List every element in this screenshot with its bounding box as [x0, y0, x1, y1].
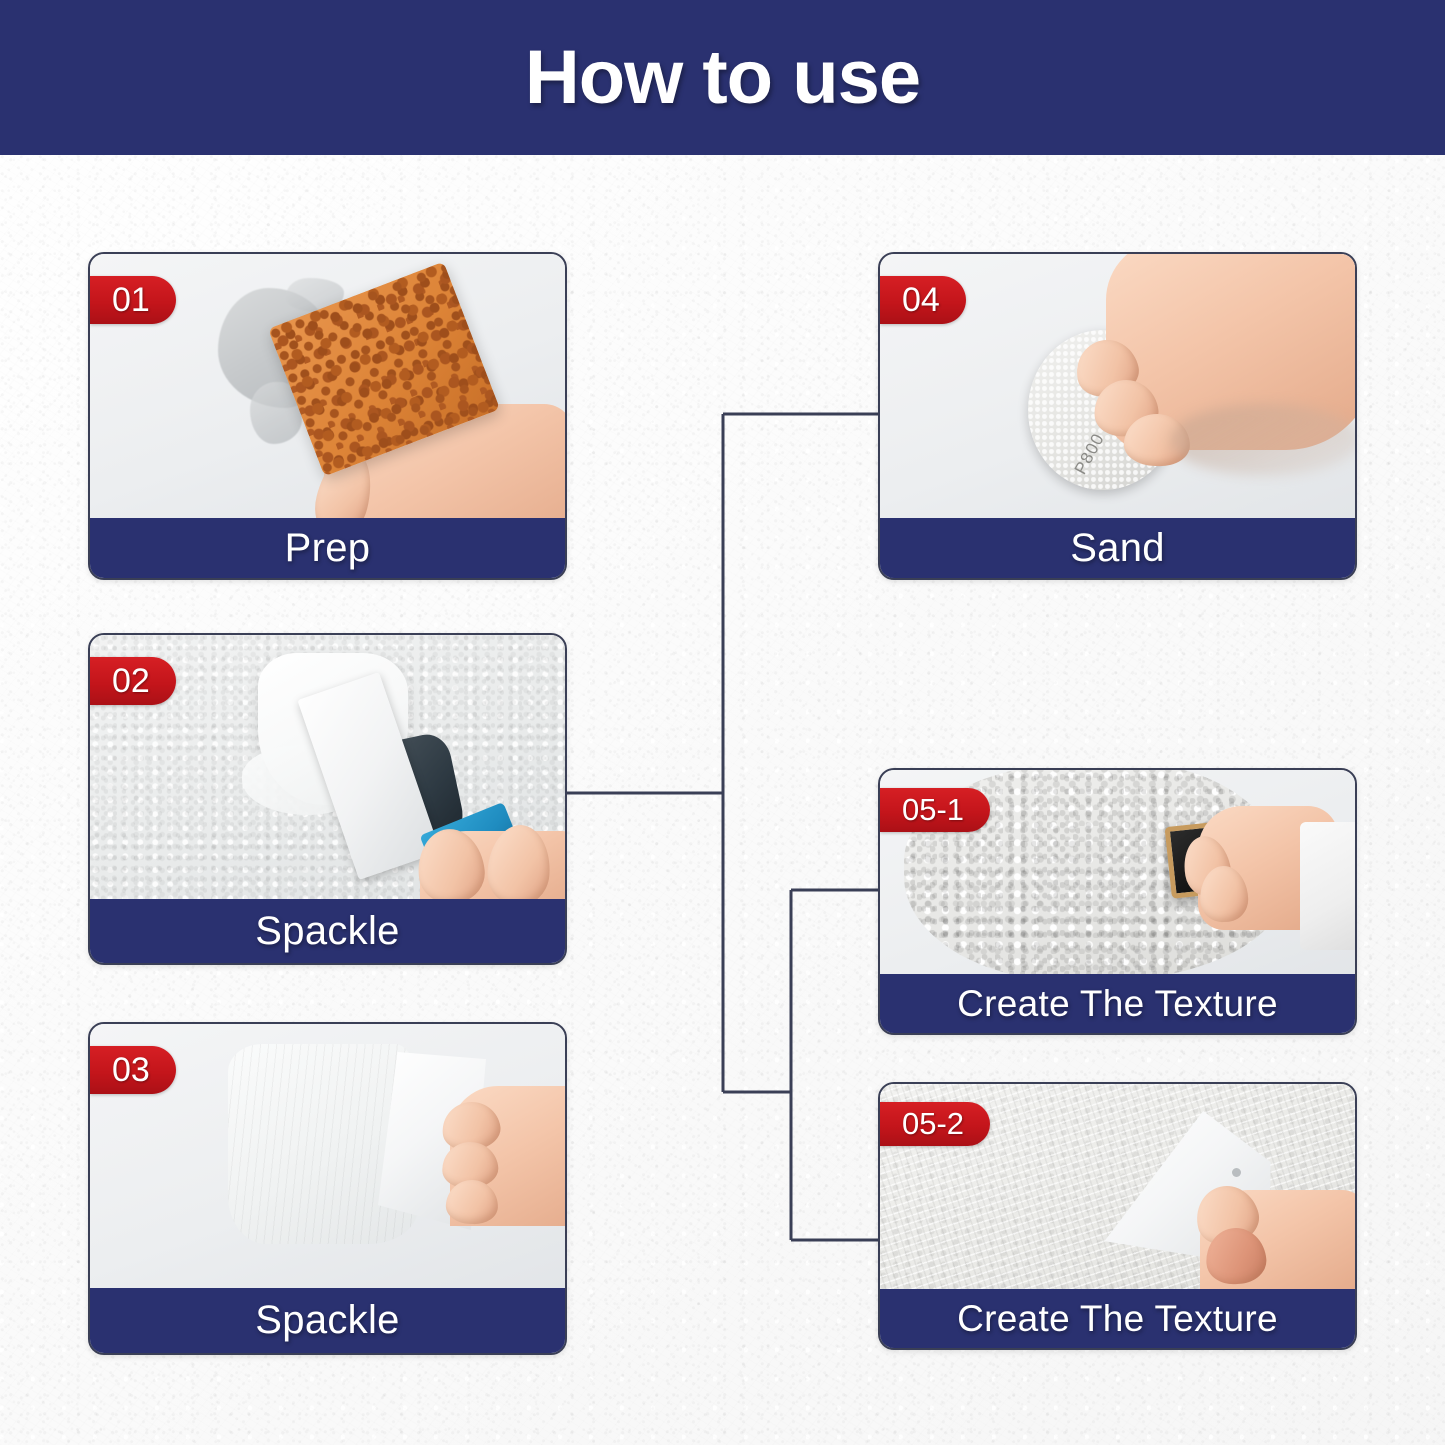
step-badge-04: 04: [880, 276, 966, 324]
scraper-hole: [1232, 1168, 1241, 1177]
step-label-05-1: Create The Texture: [880, 974, 1355, 1033]
step-label-03: Spackle: [90, 1288, 565, 1353]
sanding-disc-grit-label: P800: [1071, 430, 1109, 478]
step-badge-03: 03: [90, 1046, 176, 1094]
step-card-02[interactable]: 02 Spackle: [88, 633, 567, 965]
step-label-04: Sand: [880, 518, 1355, 578]
step-card-04[interactable]: P800 04 Sand: [878, 252, 1357, 580]
step-badge-05-2: 05-2: [880, 1102, 990, 1146]
palm-shadow: [1170, 404, 1355, 476]
step-card-01[interactable]: 01 Prep: [88, 252, 567, 580]
page-title: How to use: [525, 34, 920, 121]
step-badge-02: 02: [90, 657, 176, 705]
step-badge-01: 01: [90, 276, 176, 324]
step-label-02: Spackle: [90, 899, 565, 963]
step-label-01: Prep: [90, 518, 565, 578]
step-badge-05-1: 05-1: [880, 788, 990, 832]
shirt-sleeve: [1300, 822, 1355, 950]
step-card-05-1[interactable]: 05-1 Create The Texture: [878, 768, 1357, 1035]
page-header: How to use: [0, 0, 1445, 155]
step-label-05-2: Create The Texture: [880, 1289, 1355, 1348]
step-card-03[interactable]: 03 Spackle: [88, 1022, 567, 1355]
step-card-05-2[interactable]: 05-2 Create The Texture: [878, 1082, 1357, 1350]
